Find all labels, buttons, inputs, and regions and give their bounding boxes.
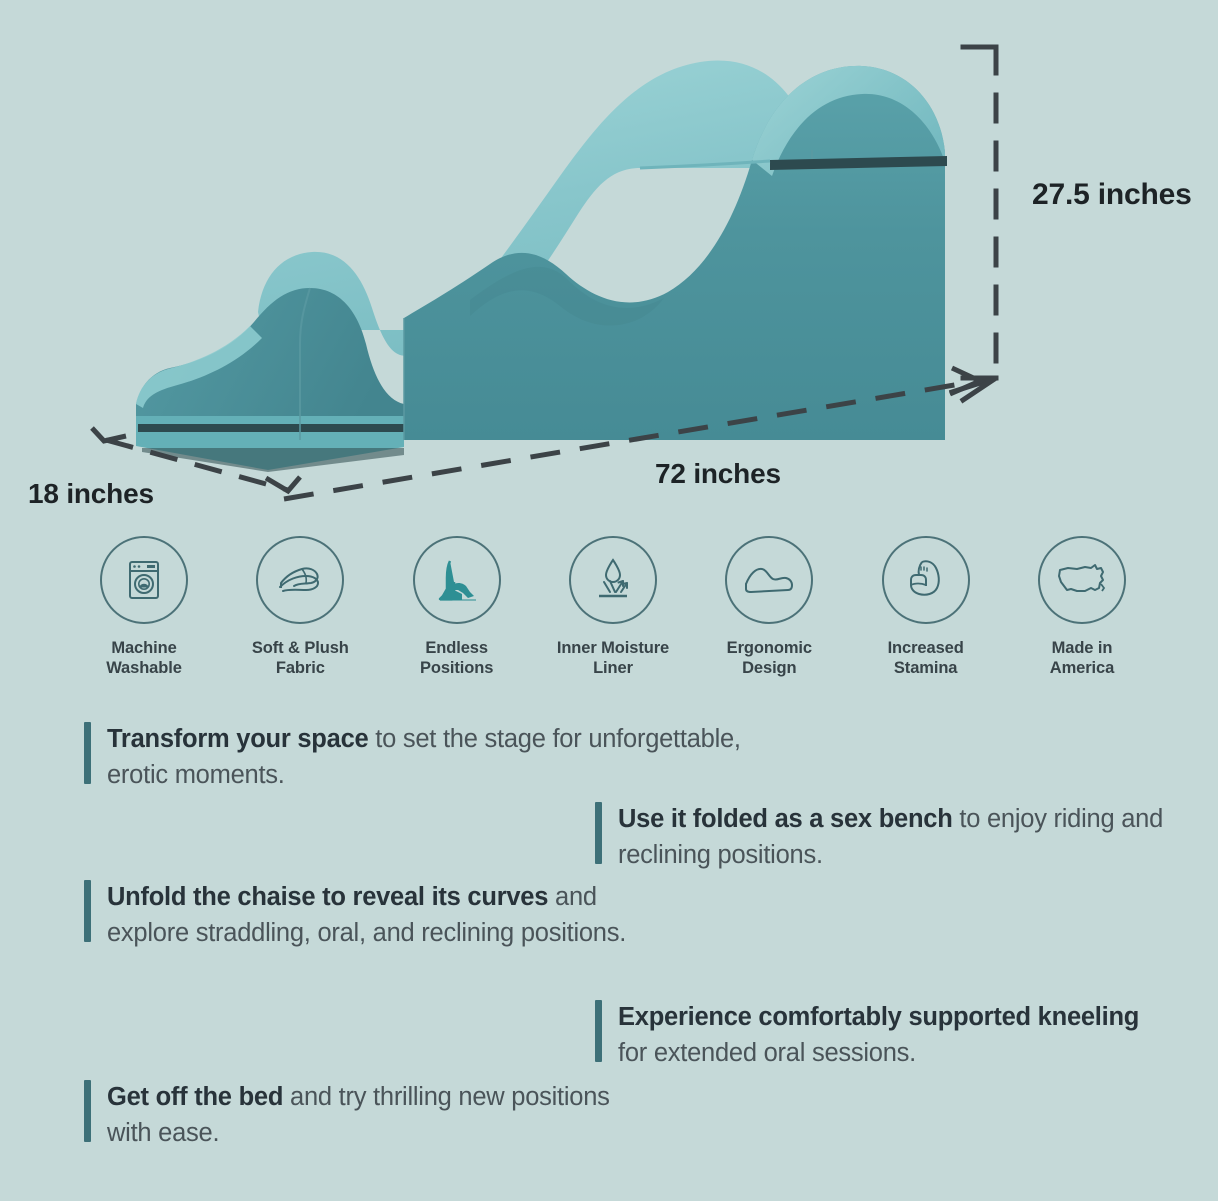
feature-label: Inner Moisture Liner xyxy=(557,638,669,678)
plush-fabric-icon xyxy=(275,557,325,603)
benefit-accent-bar xyxy=(84,880,91,942)
dimension-depth-label: 18 inches xyxy=(28,478,154,510)
feature-label: Endless Positions xyxy=(420,638,493,678)
benefit-item: Experience comfortably supported kneelin… xyxy=(595,1000,1170,1071)
ergonomic-curve-icon xyxy=(742,560,796,600)
feature-circle xyxy=(100,536,188,624)
feature-label-line1: Endless xyxy=(425,639,488,657)
feature-soft-plush-fabric: Soft & Plush Fabric xyxy=(224,536,376,678)
benefit-text: Get off the bed and try thrilling new po… xyxy=(107,1080,647,1151)
feature-label: Made in America xyxy=(1050,638,1114,678)
benefit-item: Use it folded as a sex bench to enjoy ri… xyxy=(595,802,1178,873)
benefit-text: Experience comfortably supported kneelin… xyxy=(618,1000,1170,1071)
benefit-item: Get off the bed and try thrilling new po… xyxy=(84,1080,647,1151)
benefit-lead: Use it folded as a sex bench xyxy=(618,805,953,833)
feature-label-line2: Liner xyxy=(593,659,633,677)
feature-label-line2: Positions xyxy=(420,659,493,677)
benefit-accent-bar xyxy=(84,1080,91,1142)
feature-made-in-america: Made in America xyxy=(1006,536,1158,678)
feature-ergonomic-design: Ergonomic Design xyxy=(693,536,845,678)
feature-circle xyxy=(413,536,501,624)
feature-machine-washable: Machine Washable xyxy=(68,536,220,678)
benefit-accent-bar xyxy=(595,1000,602,1062)
product-illustration xyxy=(0,0,1218,530)
benefit-text: Transform your space to set the stage fo… xyxy=(107,722,747,793)
feature-inner-moisture-liner: Inner Moisture Liner xyxy=(537,536,689,678)
benefit-text: Unfold the chaise to reveal its curves a… xyxy=(107,880,627,951)
feature-circle xyxy=(256,536,344,624)
feature-label-line2: Washable xyxy=(106,659,182,677)
product-hero: 27.5 inches 72 inches 18 inches xyxy=(0,0,1218,530)
washing-machine-icon xyxy=(121,557,167,603)
feature-label: Machine Washable xyxy=(106,638,182,678)
benefit-lead: Get off the bed xyxy=(107,1083,283,1111)
feature-label: Soft & Plush Fabric xyxy=(252,638,349,678)
feature-label-line1: Soft & Plush xyxy=(252,639,349,657)
benefit-accent-bar xyxy=(595,802,602,864)
feature-label-line1: Machine xyxy=(111,639,176,657)
feature-circle xyxy=(1038,536,1126,624)
feature-increased-stamina: Increased Stamina xyxy=(850,536,1002,678)
benefit-item: Transform your space to set the stage fo… xyxy=(84,722,747,793)
feature-label-line2: Fabric xyxy=(276,659,325,677)
feature-label-line1: Inner Moisture xyxy=(557,639,669,657)
feature-label-line1: Ergonomic xyxy=(727,639,812,657)
feature-label-line2: Stamina xyxy=(894,659,958,677)
water-repellent-icon xyxy=(589,556,637,604)
dimension-height-label: 27.5 inches xyxy=(1032,178,1192,212)
benefit-item: Unfold the chaise to reveal its curves a… xyxy=(84,880,627,951)
benefit-text: Use it folded as a sex bench to enjoy ri… xyxy=(618,802,1178,873)
flexed-bicep-icon xyxy=(902,556,950,604)
feature-label-line2: Design xyxy=(742,659,796,677)
benefit-lead: Experience comfortably supported kneelin… xyxy=(618,1003,1139,1031)
feature-label: Ergonomic Design xyxy=(727,638,812,678)
kneeling-figure-icon xyxy=(432,556,482,604)
benefit-list: Transform your space to set the stage fo… xyxy=(0,700,1218,1200)
feature-label-line2: America xyxy=(1050,659,1114,677)
feature-label-line1: Increased xyxy=(888,639,964,657)
dimension-height xyxy=(952,47,996,400)
dimension-length-label: 72 inches xyxy=(655,458,781,490)
feature-label-line1: Made in xyxy=(1052,639,1113,657)
feature-label: Increased Stamina xyxy=(888,638,964,678)
benefit-lead: Unfold the chaise to reveal its curves xyxy=(107,883,548,911)
feature-circle xyxy=(725,536,813,624)
benefit-accent-bar xyxy=(84,722,91,784)
benefit-lead: Transform your space xyxy=(107,725,368,753)
feature-circle xyxy=(569,536,657,624)
usa-map-icon xyxy=(1055,560,1109,600)
feature-endless-positions: Endless Positions xyxy=(381,536,533,678)
feature-circle xyxy=(882,536,970,624)
benefit-rest: for extended oral sessions. xyxy=(618,1039,916,1067)
feature-icon-row: Machine Washable Soft & Plush Fabric xyxy=(68,536,1158,696)
